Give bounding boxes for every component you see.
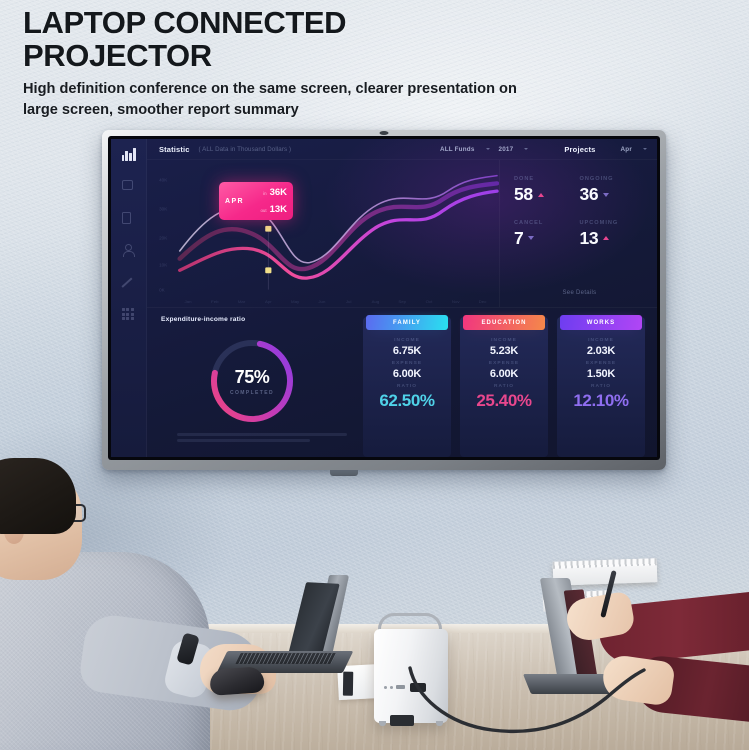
svg-text:Feb: Feb xyxy=(211,299,219,304)
card-ratio-value: 62.50% xyxy=(379,391,434,411)
card-income-value: 5.23K xyxy=(490,345,518,357)
trend-down-icon xyxy=(603,193,609,197)
category-cards: FAMILY INCOME 6.75K EXPENSE 6.00K RATIO … xyxy=(359,308,657,457)
donut-label: COMPLETED xyxy=(230,390,274,396)
dashboard-icon[interactable] xyxy=(122,180,136,193)
card-ratio-label: RATIO xyxy=(591,384,611,389)
mouse-left[interactable] xyxy=(209,666,265,696)
year-select[interactable]: 2017 xyxy=(499,146,529,153)
stats-grid: DONE 58 ONGOING 36 xyxy=(514,176,645,247)
card-works[interactable]: WORKS INCOME 2.03K EXPENSE 1.50K RATIO 1… xyxy=(557,317,645,457)
chart-tooltip: APR in 36K out 13K xyxy=(219,182,293,220)
projector-body xyxy=(374,629,448,723)
month-select-value: Apr xyxy=(621,146,632,153)
card-education[interactable]: EDUCATION INCOME 5.23K EXPENSE 6.00K RAT… xyxy=(460,317,548,457)
card-income-label: INCOME xyxy=(394,338,420,343)
card-title: WORKS xyxy=(560,315,642,330)
card-title: EDUCATION xyxy=(463,315,545,330)
svg-text:Jun: Jun xyxy=(318,299,326,304)
document-icon[interactable] xyxy=(122,212,136,225)
card-expense-value: 6.00K xyxy=(490,368,518,380)
stat-cancel: CANCEL 7 xyxy=(514,220,580,248)
year-select-value: 2017 xyxy=(499,146,514,153)
tooltip-in-label: in xyxy=(263,191,266,196)
svg-text:Jul: Jul xyxy=(346,299,352,304)
trend-up-icon xyxy=(538,193,544,197)
svg-text:30K: 30K xyxy=(159,207,167,212)
chevron-down-icon xyxy=(643,148,647,150)
projector-ports xyxy=(384,685,405,689)
card-expense-label: EXPENSE xyxy=(586,361,616,366)
tooltip-month: APR xyxy=(225,198,244,205)
stat-value: 7 xyxy=(514,230,523,248)
card-income-value: 2.03K xyxy=(587,345,615,357)
card-ratio-value: 25.40% xyxy=(476,391,531,411)
fund-select-value: ALL Funds xyxy=(440,146,475,153)
trend-down-icon xyxy=(528,236,534,240)
dashboard-upper-row: 40K 30K 20K 10K 0K JanFeb MarApr xyxy=(147,160,657,307)
svg-text:Nov: Nov xyxy=(452,299,461,304)
dashboard-topbar: Statistic ( ALL Data in Thousand Dollars… xyxy=(147,139,657,160)
tooltip-out-label: out xyxy=(260,208,266,213)
stat-label: ONGOING xyxy=(580,176,646,182)
svg-text:Aug: Aug xyxy=(372,299,380,304)
display-camera-icon xyxy=(380,131,389,135)
svg-text:Oct: Oct xyxy=(426,299,434,304)
card-income-label: INCOME xyxy=(588,338,614,343)
donut-percent: 75% xyxy=(235,367,270,388)
chevron-down-icon xyxy=(524,148,528,150)
card-expense-value: 6.00K xyxy=(393,368,421,380)
card-family[interactable]: FAMILY INCOME 6.75K EXPENSE 6.00K RATIO … xyxy=(363,317,451,457)
page-title: Statistic xyxy=(159,145,190,154)
scene-root: Statistic ( ALL Data in Thousand Dollars… xyxy=(0,0,749,750)
laptop-left-keyboard[interactable] xyxy=(235,653,336,664)
stat-value: 58 xyxy=(514,186,533,204)
svg-text:20K: 20K xyxy=(159,236,167,241)
dashboard-main: Statistic ( ALL Data in Thousand Dollars… xyxy=(147,139,657,457)
person-left-hair xyxy=(0,458,76,534)
svg-text:Dec: Dec xyxy=(479,299,487,304)
month-select[interactable]: Apr xyxy=(621,146,647,153)
chevron-down-icon xyxy=(486,148,490,150)
wall-mounted-display: Statistic ( ALL Data in Thousand Dollars… xyxy=(102,130,666,470)
card-income-label: INCOME xyxy=(491,338,517,343)
tooltip-in-value: 36K xyxy=(270,187,287,198)
stat-value: 13 xyxy=(580,230,599,248)
page-subheadline: High definition conference on the same s… xyxy=(23,79,543,120)
svg-text:May: May xyxy=(291,299,300,304)
user-icon[interactable] xyxy=(122,244,136,257)
card-expense-label: EXPENSE xyxy=(392,361,422,366)
stat-ongoing: ONGOING 36 xyxy=(580,176,646,204)
panel-title: Expenditure-income ratio xyxy=(161,316,359,323)
display-bezel-inner: Statistic ( ALL Data in Thousand Dollars… xyxy=(108,136,660,460)
trend-up-icon xyxy=(603,236,609,240)
card-title: FAMILY xyxy=(366,315,448,330)
chart-svg: 40K 30K 20K 10K 0K JanFeb MarApr xyxy=(153,166,499,307)
card-expense-value: 1.50K xyxy=(587,368,615,380)
headline-block: LAPTOP CONNECTED PROJECTOR High definiti… xyxy=(23,6,543,121)
svg-text:10K: 10K xyxy=(159,263,167,268)
grid-icon[interactable] xyxy=(122,308,136,321)
stat-value: 36 xyxy=(580,186,599,204)
projects-stats-panel: DONE 58 ONGOING 36 xyxy=(499,160,657,307)
dashboard-lower-row: Expenditure-income ratio xyxy=(147,307,657,457)
svg-text:Mar: Mar xyxy=(238,299,246,304)
svg-text:Apr: Apr xyxy=(265,299,272,304)
card-ratio-label: RATIO xyxy=(494,384,514,389)
projector-hdmi-port xyxy=(410,683,426,692)
svg-text:Sep: Sep xyxy=(398,299,406,304)
stat-label: CANCEL xyxy=(514,220,580,226)
projector-feet xyxy=(376,721,446,726)
statistics-chart: 40K 30K 20K 10K 0K JanFeb MarApr xyxy=(147,160,499,307)
svg-text:Jan: Jan xyxy=(185,299,193,304)
donut-center: 75% COMPLETED xyxy=(203,332,301,430)
tooltip-out-value: 13K xyxy=(270,204,287,215)
svg-text:40K: 40K xyxy=(159,178,167,183)
projects-title: Projects xyxy=(564,145,595,154)
stat-label: DONE xyxy=(514,176,580,182)
card-ratio-value: 12.10% xyxy=(573,391,628,411)
stat-label: UPCOMING xyxy=(580,220,646,226)
fund-select[interactable]: ALL Funds xyxy=(440,146,490,153)
panel-footnote xyxy=(177,433,347,445)
display-mount xyxy=(330,470,358,476)
percent-icon[interactable] xyxy=(122,276,136,289)
card-income-value: 6.75K xyxy=(393,345,421,357)
page-headline: LAPTOP CONNECTED PROJECTOR xyxy=(23,6,543,72)
page-subtitle: ( ALL Data in Thousand Dollars ) xyxy=(199,146,292,153)
dashboard-app: Statistic ( ALL Data in Thousand Dollars… xyxy=(111,139,657,457)
dashboard-sidebar xyxy=(111,139,147,457)
stat-upcoming: UPCOMING 13 xyxy=(580,220,646,248)
expenditure-income-panel: Expenditure-income ratio xyxy=(147,308,359,457)
stat-done: DONE 58 xyxy=(514,176,580,204)
svg-text:0K: 0K xyxy=(159,288,165,293)
card-ratio-label: RATIO xyxy=(397,384,417,389)
completion-donut-chart: 75% COMPLETED xyxy=(203,332,301,430)
card-expense-label: EXPENSE xyxy=(489,361,519,366)
see-details-link[interactable]: See Details xyxy=(514,290,645,301)
bar-chart-icon[interactable] xyxy=(122,148,136,161)
